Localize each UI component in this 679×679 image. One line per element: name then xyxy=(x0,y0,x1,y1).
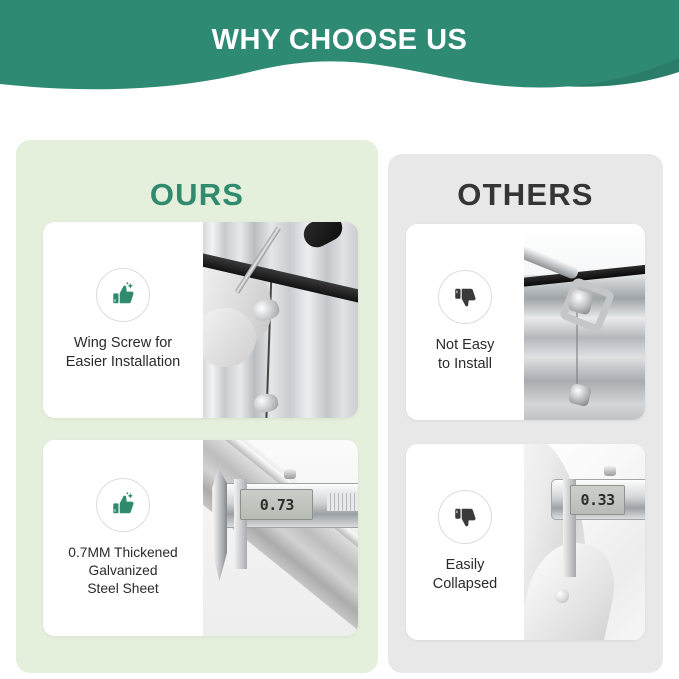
others-card-1[interactable]: Not Easy to Install xyxy=(406,224,645,420)
thumbs-down-icon xyxy=(438,490,492,544)
thumbs-down-glyph xyxy=(450,502,480,532)
thumbs-up-glyph xyxy=(108,280,138,310)
ours-card-1[interactable]: Wing Screw for Easier Installation xyxy=(43,222,358,418)
wing-screw-installation-photo xyxy=(203,222,358,418)
caliper-lcd-display: 0.73 xyxy=(240,489,313,520)
ours-heading: OURS xyxy=(16,177,378,213)
thumbs-up-glyph xyxy=(108,490,138,520)
ours-card-2-label: 0.7MM Thickened Galvanized Steel Sheet xyxy=(62,544,183,599)
page-title: WHY CHOOSE US xyxy=(0,0,679,80)
others-heading: OTHERS xyxy=(388,177,663,213)
others-card-2[interactable]: Easily Collapsed 0.33 xyxy=(406,444,645,640)
caliper-reading-value: 0.73 xyxy=(260,496,294,514)
others-card-1-text-side: Not Easy to Install xyxy=(406,224,524,420)
ours-card-2[interactable]: 0.7MM Thickened Galvanized Steel Sheet 0… xyxy=(43,440,358,636)
thumbs-down-icon xyxy=(438,270,492,324)
ours-card-1-text-side: Wing Screw for Easier Installation xyxy=(43,222,203,418)
thumbs-down-glyph xyxy=(450,282,480,312)
thumbs-up-icon xyxy=(96,478,150,532)
ours-card-2-text-side: 0.7MM Thickened Galvanized Steel Sheet xyxy=(43,440,203,636)
ours-card-1-label: Wing Screw for Easier Installation xyxy=(60,334,186,372)
caliper-measuring-galvanized-steel-photo: 0.73 xyxy=(203,440,358,636)
wrench-tightening-bolts-photo xyxy=(524,224,645,420)
caliper-reading-value: 0.33 xyxy=(581,491,615,509)
caliper-lcd-display: 0.33 xyxy=(570,485,625,514)
caliper-measuring-thin-sheet-photo: 0.33 xyxy=(524,444,645,640)
others-card-2-label: Easily Collapsed xyxy=(427,556,504,594)
thumbs-up-icon xyxy=(96,268,150,322)
header-banner: WHY CHOOSE US xyxy=(0,0,679,110)
others-card-2-text-side: Easily Collapsed xyxy=(406,444,524,640)
others-card-1-label: Not Easy to Install xyxy=(430,336,501,374)
